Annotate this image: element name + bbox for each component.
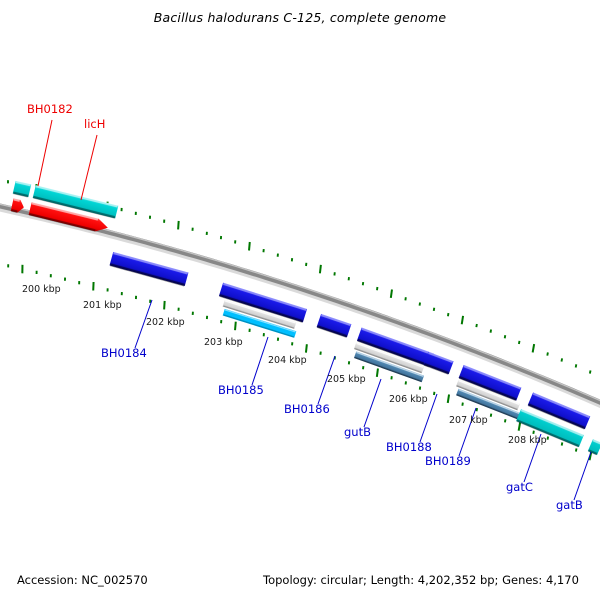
major-tick-mark <box>306 344 307 352</box>
ruler-tick-label: 203 kbp <box>204 337 243 348</box>
major-tick-mark <box>164 301 165 309</box>
gene-label-BH0182[interactable]: BH0182 <box>27 102 73 116</box>
red-feature-arrow-0-highlight <box>14 199 20 200</box>
leader-line-BH0185 <box>252 337 268 385</box>
teal-feature-bar-1[interactable] <box>588 439 600 455</box>
gene-box-BH0186-body <box>317 314 352 338</box>
minor-tick-mark <box>576 364 577 367</box>
genome-stats-text: Topology: circular; Length: 4,202,352 bp… <box>263 573 579 587</box>
minor-tick-mark <box>519 341 520 344</box>
minor-tick-mark <box>547 352 548 355</box>
minor-tick-mark <box>576 448 577 451</box>
gene-label-licH[interactable]: licH <box>84 117 105 131</box>
ruler-tick-label: 206 kbp <box>389 394 428 405</box>
major-tick-mark <box>249 242 250 250</box>
gene-label-BH0185[interactable]: BH0185 <box>218 383 264 397</box>
major-tick-mark <box>448 395 449 403</box>
gene-label-BH0184[interactable]: BH0184 <box>101 346 147 360</box>
major-tick-mark <box>462 316 463 324</box>
leader-line-BH0182 <box>38 120 52 186</box>
minor-tick-mark <box>491 414 492 417</box>
major-tick-mark <box>391 289 392 297</box>
gene-label-BH0188[interactable]: BH0188 <box>386 440 432 454</box>
accession-text: Accession: NC_002570 <box>17 573 148 587</box>
minor-tick-mark <box>491 330 492 333</box>
minor-tick-mark <box>590 370 591 373</box>
major-tick-mark <box>320 265 321 273</box>
gene-label-gatB[interactable]: gatB <box>556 498 583 512</box>
gene-box-BH0186[interactable] <box>317 314 352 338</box>
genome-map-canvas[interactable]: 200 kbp201 kbp202 kbp203 kbp204 kbp205 k… <box>0 0 600 600</box>
major-tick-mark <box>519 422 520 430</box>
minor-tick-mark <box>533 431 534 434</box>
minor-tick-mark <box>476 324 477 327</box>
ruler-tick-label: 202 kbp <box>146 317 185 328</box>
minor-tick-mark <box>477 408 478 411</box>
major-tick-mark <box>235 322 236 330</box>
gene-box-BH0184[interactable] <box>110 252 189 286</box>
gene-box-BH0188[interactable] <box>423 352 453 375</box>
major-tick-mark <box>178 221 179 229</box>
minor-tick-mark <box>505 335 506 338</box>
minor-tick-mark <box>505 419 506 422</box>
red-feature-arrow-0-shade <box>11 210 17 211</box>
ruler-tick-label: 204 kbp <box>268 355 307 366</box>
ruler-tick-label: 201 kbp <box>83 300 122 311</box>
leader-line-gutB <box>364 379 381 427</box>
minor-tick-mark <box>562 442 563 445</box>
ruler-tick-label: 205 kbp <box>327 374 366 385</box>
minor-tick-mark <box>462 403 463 406</box>
ruler-tick-label: 208 kbp <box>508 435 547 446</box>
major-tick-mark <box>377 368 378 376</box>
leader-line-gatB <box>574 452 591 500</box>
cyan-feature-bar-0[interactable] <box>13 181 32 197</box>
gene-label-BH0186[interactable]: BH0186 <box>284 402 330 416</box>
ruler-tick-label: 207 kbp <box>449 415 488 426</box>
gene-label-gutB[interactable]: gutB <box>344 425 371 439</box>
gene-label-BH0189[interactable]: BH0189 <box>425 454 471 468</box>
leader-line-licH <box>81 135 97 200</box>
major-tick-mark <box>533 344 535 352</box>
minor-tick-mark <box>562 358 563 361</box>
gene-label-gatC[interactable]: gatC <box>506 480 533 494</box>
minor-tick-mark <box>548 437 549 440</box>
genome-map-viewer: Bacillus halodurans C-125, complete geno… <box>0 0 600 600</box>
ruler-tick-label: 200 kbp <box>22 284 61 295</box>
